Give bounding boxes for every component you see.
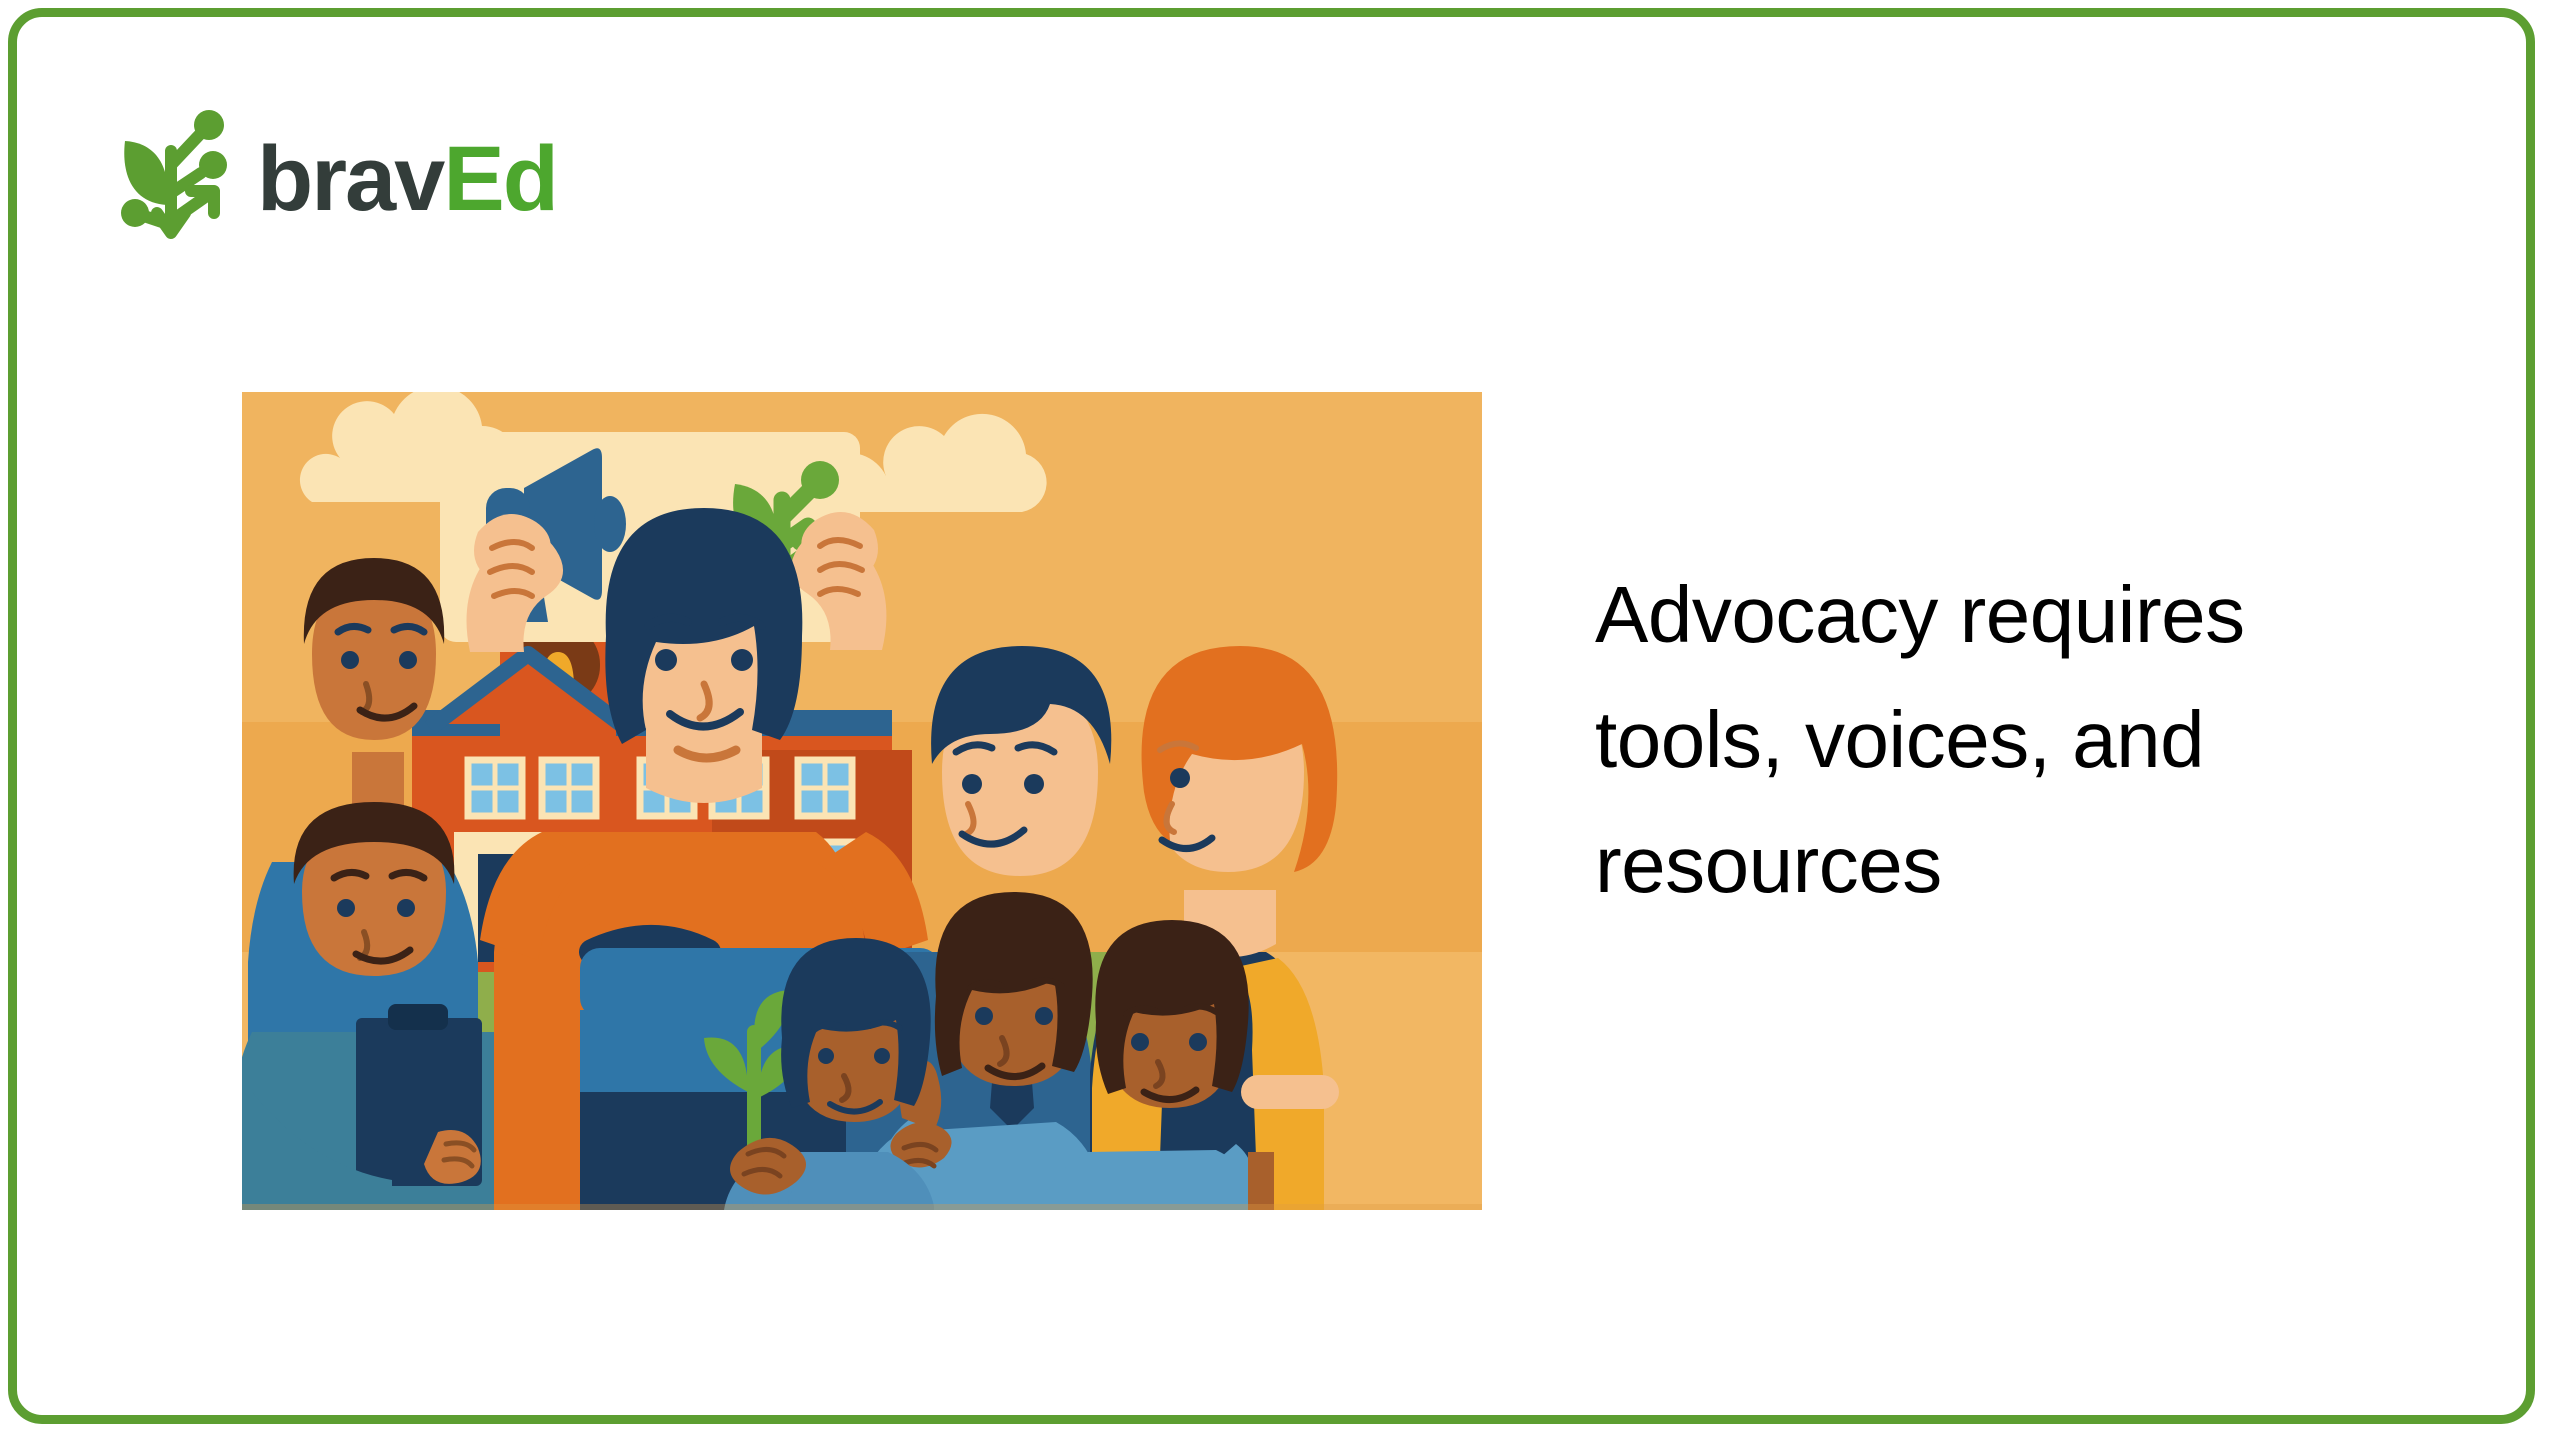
- braved-logo[interactable]: bravEd: [115, 109, 557, 249]
- page-title: Advocacy requires tools, voices, and res…: [1595, 553, 2395, 927]
- advocacy-illustration: [242, 392, 1482, 1210]
- logo-wordmark: bravEd: [257, 133, 557, 225]
- illustration-svg: [242, 392, 1482, 1210]
- slide-canvas: bravEd: [8, 8, 2535, 1424]
- logo-word-ed: Ed: [443, 128, 557, 230]
- plant-circuit-leaf-icon: [115, 109, 239, 249]
- logo-word-brav: brav: [257, 128, 443, 230]
